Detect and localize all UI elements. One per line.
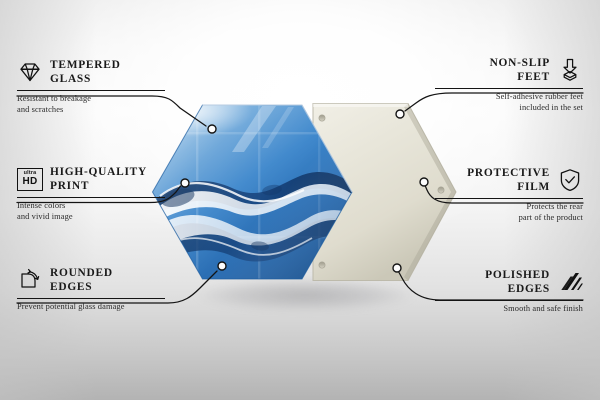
feature-rule (17, 197, 165, 198)
feature-desc-line1: Intense colors (17, 201, 65, 210)
feature-header: ultra HD HIGH-QUALITY PRINT (17, 165, 165, 193)
feature-title-line1: POLISHED (485, 269, 550, 281)
feature-title-line1: PROTECTIVE (467, 167, 550, 179)
diamond-icon (17, 59, 43, 85)
feature-title: NON-SLIP FEET (490, 56, 550, 84)
feature-desc-line2: part of the product (519, 213, 583, 222)
feature-description: Smooth and safe finish (435, 304, 583, 315)
feature-description: Self-adhesive rubber feet included in th… (435, 92, 583, 113)
feature-desc-line1: Prevent potential glass damage (17, 302, 125, 311)
feature-high-quality-print: ultra HD HIGH-QUALITY PRINT Intense colo… (17, 165, 165, 223)
feature-title-line1: ROUNDED (50, 267, 113, 279)
feature-title-line1: TEMPERED (50, 59, 121, 71)
feature-rule (17, 90, 165, 91)
feature-title-line2: EDGES (50, 281, 92, 293)
feature-title: TEMPERED GLASS (50, 58, 121, 86)
feature-title: ROUNDED EDGES (50, 266, 113, 294)
feature-description: Resistant to breakage and scratches (17, 94, 165, 115)
feature-rule (435, 198, 583, 199)
feature-desc-line2: and vivid image (17, 212, 73, 221)
ultra-hd-icon: ultra HD (17, 168, 43, 191)
feature-header: PROTECTIVE FILM (435, 166, 583, 194)
feature-title-line2: FILM (517, 181, 550, 193)
feature-header: NON-SLIP FEET (435, 56, 583, 84)
feature-protective-film: PROTECTIVE FILM Protects the rear part o… (435, 166, 583, 224)
feature-header: POLISHED EDGES (435, 268, 583, 296)
feature-rule (435, 88, 583, 89)
ultra-hd-icon-bottom-text: HD (22, 177, 37, 187)
feature-desc-line2: included in the set (520, 103, 583, 112)
feature-description: Intense colors and vivid image (17, 201, 165, 222)
feature-rounded-edges: ROUNDED EDGES Prevent potential glass da… (17, 266, 165, 313)
feature-rule (435, 300, 583, 301)
feature-title-line1: HIGH-QUALITY (50, 166, 147, 178)
feature-header: TEMPERED GLASS (17, 58, 165, 86)
diagonal-stripes-icon (557, 269, 583, 295)
feature-non-slip-feet: NON-SLIP FEET Self-adhesive rubber feet … (435, 56, 583, 114)
feature-desc-line1: Resistant to breakage (17, 94, 91, 103)
feature-title: HIGH-QUALITY PRINT (50, 165, 147, 193)
feature-description: Prevent potential glass damage (17, 302, 165, 313)
feature-polished-edges: POLISHED EDGES Smooth and safe finish (435, 268, 583, 315)
feature-title-line2: EDGES (508, 283, 550, 295)
feature-title-line2: FEET (517, 71, 550, 83)
rounded-corner-icon (17, 267, 43, 293)
feature-desc-line2: and scratches (17, 105, 63, 114)
feature-title-line2: GLASS (50, 73, 91, 85)
feature-desc-line1: Protects the rear (527, 202, 583, 211)
feature-rule (17, 298, 165, 299)
feature-title-line2: PRINT (50, 180, 89, 192)
feature-desc-line1: Smooth and safe finish (503, 304, 583, 313)
shield-check-icon (557, 167, 583, 193)
feature-title: PROTECTIVE FILM (467, 166, 550, 194)
press-down-arrow-icon (557, 57, 583, 83)
feature-desc-line1: Self-adhesive rubber feet (496, 92, 583, 101)
feature-title: POLISHED EDGES (485, 268, 550, 296)
feature-header: ROUNDED EDGES (17, 266, 165, 294)
infographic-canvas: TEMPERED GLASS Resistant to breakage and… (0, 0, 600, 400)
feature-description: Protects the rear part of the product (435, 202, 583, 223)
feature-title-line1: NON-SLIP (490, 57, 550, 69)
feature-tempered-glass: TEMPERED GLASS Resistant to breakage and… (17, 58, 165, 116)
